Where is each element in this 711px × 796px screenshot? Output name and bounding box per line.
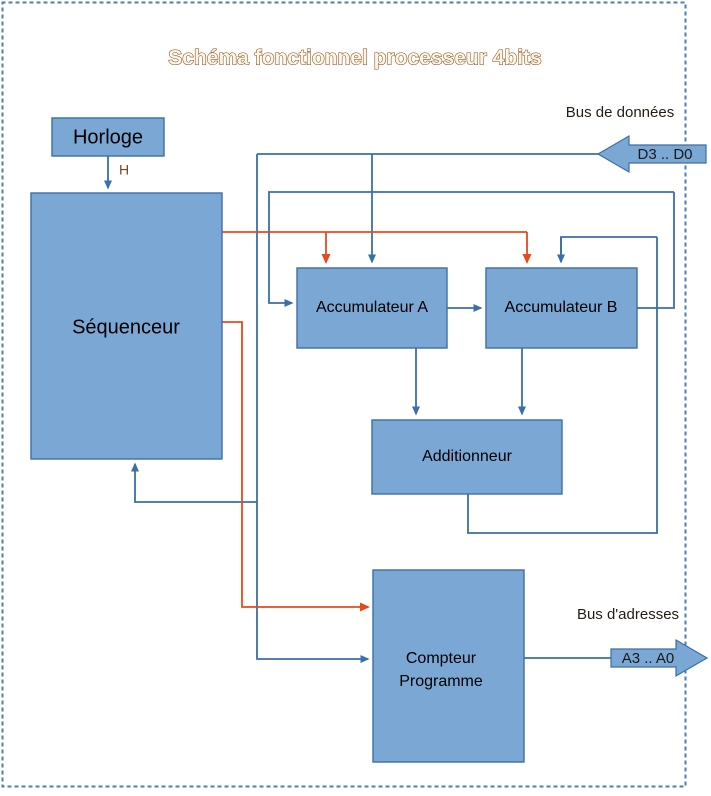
diagram-canvas: Horloge Séquenceur Accumulateur A Accumu… — [0, 0, 711, 796]
title-layer: Schéma fonctionnel processeur 4bits — [0, 0, 711, 796]
page-title: Schéma fonctionnel processeur 4bits — [168, 47, 541, 70]
